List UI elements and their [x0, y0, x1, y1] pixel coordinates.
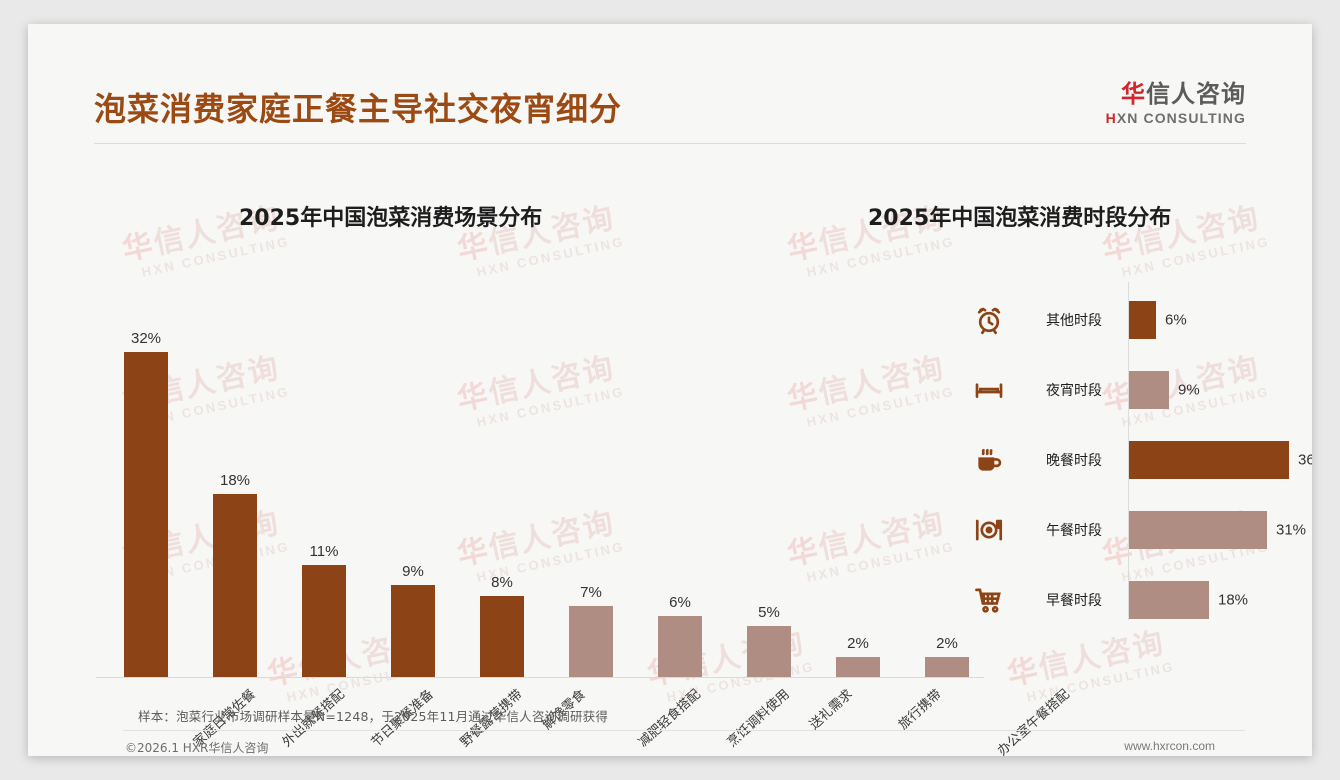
- column-bar[interactable]: [569, 606, 613, 677]
- horizontal-bar-value: 18%: [1218, 592, 1248, 609]
- column-bar-group: 5%: [747, 626, 791, 677]
- bar-row: 午餐时段31%: [828, 498, 1288, 562]
- brand-logo: 华信人咨询 HXN CONSULTING: [1106, 81, 1246, 126]
- column-bar[interactable]: [747, 626, 791, 677]
- column-bar-group: 6%: [658, 616, 702, 677]
- bar-category-label: 其他时段: [1046, 310, 1102, 330]
- left-chart-title: 2025年中国泡菜消费场景分布: [239, 200, 542, 232]
- column-axis-label: 办公室午餐搭配: [992, 684, 1072, 756]
- column-bar-value: 6%: [669, 594, 691, 611]
- column-bar-value: 7%: [580, 584, 602, 601]
- title-divider: [94, 143, 1246, 144]
- bar-category-label: 午餐时段: [1046, 520, 1102, 540]
- horizontal-bar[interactable]: [1129, 441, 1289, 479]
- footer-copyright: ©2026.1 HXR华信人咨询: [125, 739, 268, 756]
- column-bar-value: 11%: [310, 543, 339, 560]
- bar-category-label: 夜宵时段: [1046, 380, 1102, 400]
- column-bar-value: 8%: [491, 574, 513, 591]
- horizontal-bar-value: 9%: [1178, 382, 1200, 399]
- column-axis-label: 烹饪调料使用: [722, 684, 793, 750]
- footer-website: www.hxrcon.com: [1124, 739, 1215, 753]
- bar-row: 夜宵时段9%: [828, 358, 1288, 422]
- plate-cutlery-icon: [973, 514, 1005, 546]
- right-chart-plot-area: 其他时段6%夜宵时段9%晚餐时段36%午餐时段31%早餐时段18%: [828, 280, 1288, 640]
- horizontal-bar[interactable]: [1129, 581, 1209, 619]
- column-axis-label: 送礼需求: [804, 684, 855, 733]
- column-bar[interactable]: [302, 565, 346, 677]
- column-bar-group: 32%: [124, 352, 168, 677]
- footer-divider: [123, 730, 1245, 731]
- logo-english: HXN CONSULTING: [1106, 110, 1246, 126]
- horizontal-bar[interactable]: [1129, 301, 1156, 339]
- column-bar-value: 9%: [402, 563, 424, 580]
- right-chart-title: 2025年中国泡菜消费时段分布: [868, 200, 1171, 232]
- horizontal-bar-value: 6%: [1165, 312, 1187, 329]
- alarm-clock-icon: [973, 304, 1005, 336]
- coffee-cup-icon: [973, 444, 1005, 476]
- column-bar-value: 5%: [758, 604, 780, 621]
- column-bar-group: 8%: [480, 596, 524, 677]
- timeslot-distribution-chart: 2025年中国泡菜消费时段分布 其他时段6%夜宵时段9%晚餐时段36%午餐时段3…: [828, 184, 1288, 684]
- column-bar[interactable]: [213, 494, 257, 677]
- bar-category-label: 早餐时段: [1046, 590, 1102, 610]
- slide-canvas: 华信人咨询HXN CONSULTING华信人咨询HXN CONSULTING华信…: [28, 24, 1312, 756]
- logo-en-rest: XN CONSULTING: [1117, 110, 1246, 126]
- horizontal-bar-value: 36%: [1298, 452, 1312, 469]
- logo-chinese: 华信人咨询: [1106, 81, 1246, 107]
- column-bar-value: 18%: [220, 472, 250, 489]
- shopping-cart-icon: [973, 584, 1005, 616]
- column-bar[interactable]: [124, 352, 168, 677]
- logo-en-accent: H: [1106, 110, 1117, 126]
- horizontal-bar[interactable]: [1129, 511, 1267, 549]
- bar-row: 早餐时段18%: [828, 568, 1288, 632]
- page-title: 泡菜消费家庭正餐主导社交夜宵细分: [94, 84, 622, 130]
- column-bar[interactable]: [391, 585, 435, 677]
- bed-icon: [973, 374, 1005, 406]
- column-bar[interactable]: [480, 596, 524, 677]
- column-axis-label: 减肥轻食搭配: [633, 684, 704, 750]
- logo-cn-rest: 信人咨询: [1146, 80, 1246, 108]
- column-bar-group: 9%: [391, 585, 435, 677]
- column-bar-group: 18%: [213, 494, 257, 677]
- column-bar-group: 7%: [569, 606, 613, 677]
- horizontal-bar-value: 31%: [1276, 522, 1306, 539]
- column-bar[interactable]: [658, 616, 702, 677]
- column-bar-value: 32%: [131, 330, 161, 347]
- bar-row: 晚餐时段36%: [828, 428, 1288, 492]
- bar-category-label: 晚餐时段: [1046, 450, 1102, 470]
- column-axis-label: 旅行携带: [893, 684, 944, 733]
- column-bar-group: 11%: [302, 565, 346, 677]
- horizontal-bar[interactable]: [1129, 371, 1169, 409]
- sample-note: 样本：泡菜行业市场调研样本量N=1248，于2025年11月通过华信人咨询调研获…: [138, 706, 608, 725]
- bar-row: 其他时段6%: [828, 288, 1288, 352]
- logo-cn-accent: 华: [1121, 80, 1146, 108]
